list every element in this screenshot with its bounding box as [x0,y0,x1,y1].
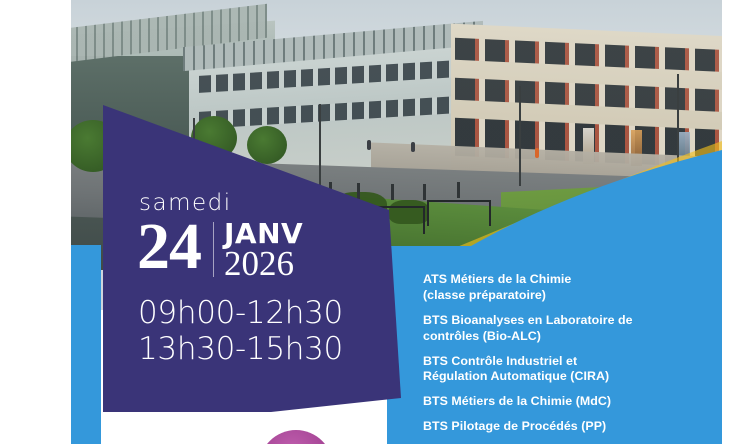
program-list: ATS Métiers de la Chimie(classe préparat… [423,272,695,444]
bollard [423,184,426,200]
poster-root: samedi 24 JANV 2026 09h00-12h30 13h30-15… [0,0,733,444]
magenta-circle [259,430,333,444]
railing [427,200,491,226]
bollard [241,174,244,190]
date-divider [213,222,214,277]
date-row: 24 JANV 2026 [137,219,397,281]
tree [247,126,287,164]
time-slots: 09h00-12h30 13h30-15h30 [137,295,397,368]
pedestrian [411,142,415,152]
poster-content: samedi 24 JANV 2026 09h00-12h30 13h30-15… [71,0,722,444]
bollard [221,172,224,188]
pedestrian [367,140,371,150]
date-block: samedi 24 JANV 2026 09h00-12h30 13h30-15… [137,192,397,368]
lamp-post [519,86,521,186]
bollard [261,176,264,192]
program-item: BTS Métiers de la Chimie (MdC) [423,394,695,410]
program-item: BTS Bioanalyses en Laboratoire decontrôl… [423,313,695,345]
program-item: BTS Pilotage de Procédés (PP) [423,419,695,435]
month-year: JANV 2026 [224,219,303,281]
lamp-post [319,104,321,188]
time-slot-morning: 09h00-12h30 [138,295,397,332]
tree [191,116,237,160]
blue-left-stripe [71,245,101,444]
lamp-post [677,74,679,184]
year-label: 2026 [224,247,303,281]
time-slot-afternoon: 13h30-15h30 [138,331,397,368]
lamp-post [193,118,195,190]
day-number: 24 [137,219,201,274]
cyclist [535,148,539,158]
bollard [457,182,460,198]
program-item: BTS Contrôle Industriel etRégulation Aut… [423,354,695,386]
program-item: ATS Métiers de la Chimie(classe préparat… [423,272,695,304]
